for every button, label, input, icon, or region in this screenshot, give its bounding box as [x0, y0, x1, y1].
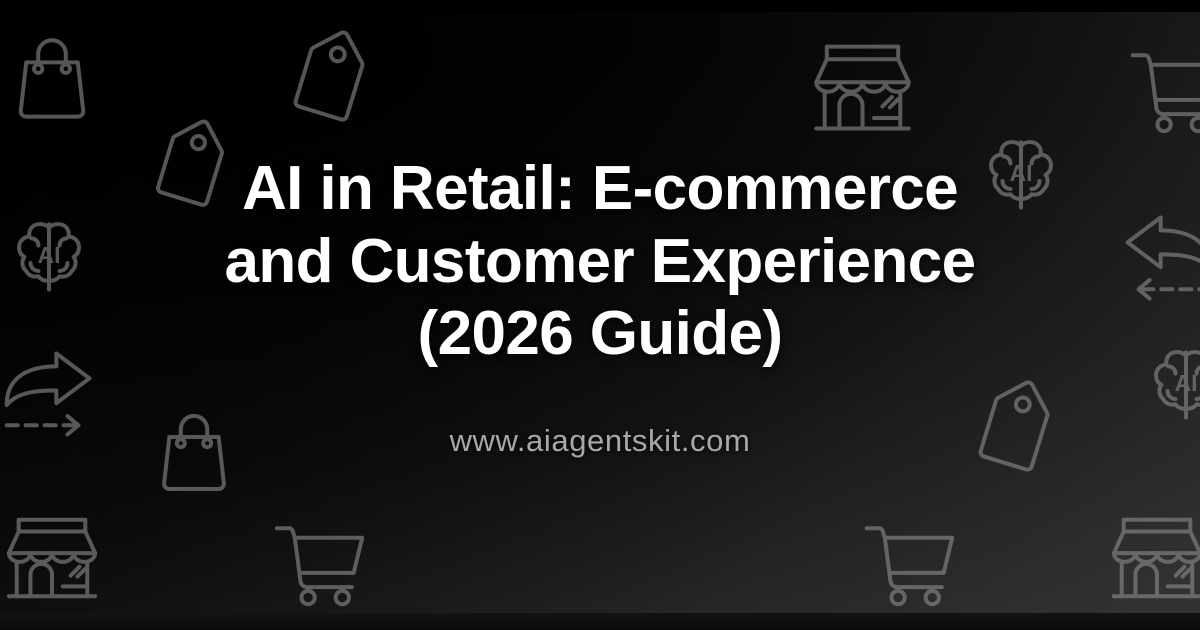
site-url: www.aiagentskit.com	[450, 423, 751, 459]
card-content: AI in Retail: E-commerce and Customer Ex…	[0, 0, 1200, 630]
page-title: AI in Retail: E-commerce and Customer Ex…	[180, 153, 1020, 371]
og-image-card: AI AI AI	[0, 0, 1200, 630]
